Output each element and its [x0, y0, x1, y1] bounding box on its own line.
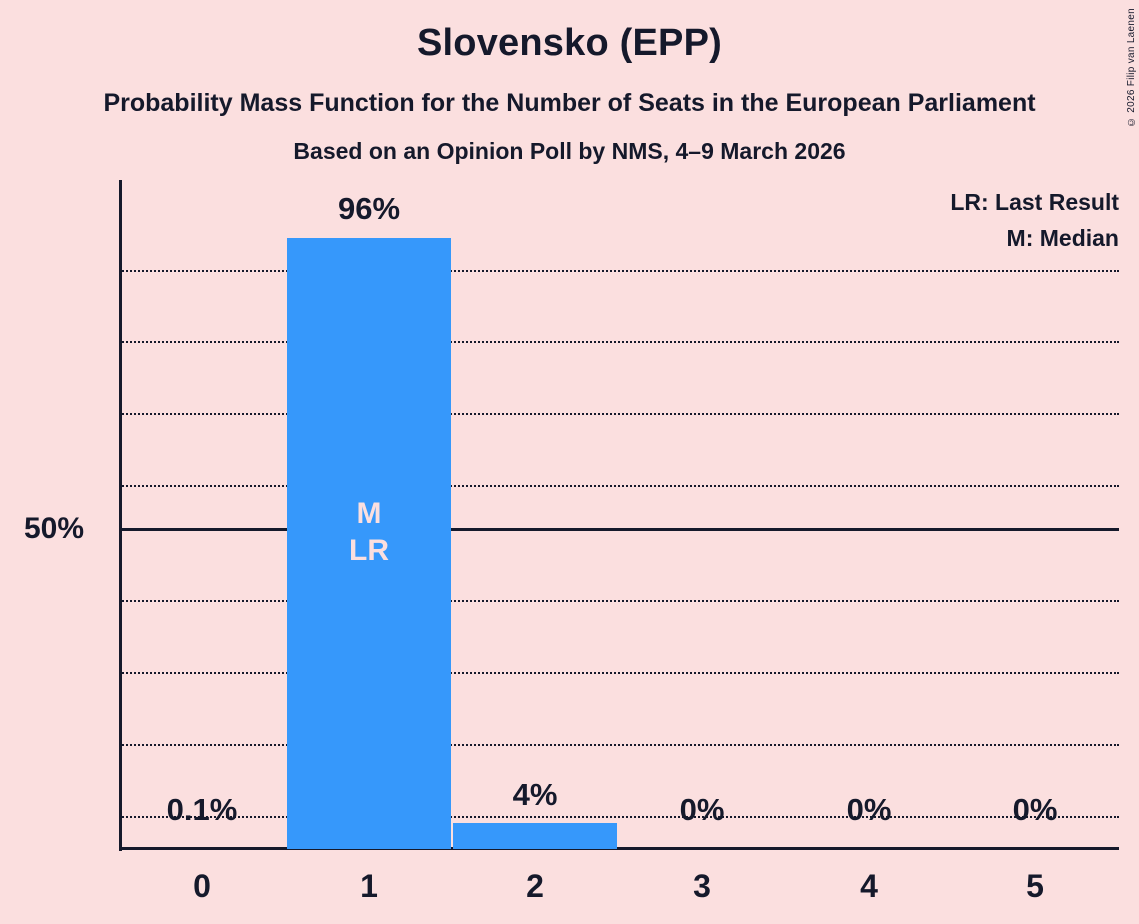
y-axis-tick-50: 50% — [24, 512, 84, 546]
x-axis-tick-0: 0 — [119, 868, 285, 905]
median-marker: M — [286, 495, 452, 532]
gridline-70 — [119, 413, 1119, 415]
x-axis-tick-5: 5 — [952, 868, 1118, 905]
bar-2[interactable] — [453, 823, 617, 849]
chart-source-line: Based on an Opinion Poll by NMS, 4–9 Mar… — [0, 137, 1139, 165]
page-title: Slovensko (EPP) — [0, 22, 1139, 64]
bar-value-3: 0% — [619, 792, 785, 828]
gridline-40 — [119, 600, 1119, 602]
gridline-20 — [119, 744, 1119, 746]
chart-subtitle: Probability Mass Function for the Number… — [0, 88, 1139, 118]
copyright-notice: © 2026 Filip van Laenen — [1126, 8, 1137, 127]
gridline-60 — [119, 485, 1119, 487]
plot-area: 0.1% 96% 4% 0% 0% 0% M LR — [119, 180, 1119, 849]
gridline-80 — [119, 341, 1119, 343]
x-axis-tick-2: 2 — [452, 868, 618, 905]
x-axis-tick-1: 1 — [286, 868, 452, 905]
bar-0[interactable] — [120, 848, 284, 849]
chart-canvas: Slovensko (EPP) Probability Mass Functio… — [0, 0, 1139, 924]
bar-value-0: 0.1% — [119, 792, 285, 828]
bar-value-1: 96% — [286, 191, 452, 227]
bar-value-5: 0% — [952, 792, 1118, 828]
x-axis-tick-4: 4 — [786, 868, 952, 905]
x-axis-tick-3: 3 — [619, 868, 785, 905]
bar-value-4: 0% — [786, 792, 952, 828]
bar-value-2: 4% — [452, 777, 618, 813]
gridline-30 — [119, 672, 1119, 674]
gridline-50 — [119, 528, 1119, 531]
gridline-90 — [119, 270, 1119, 272]
last-result-marker: LR — [286, 532, 452, 569]
